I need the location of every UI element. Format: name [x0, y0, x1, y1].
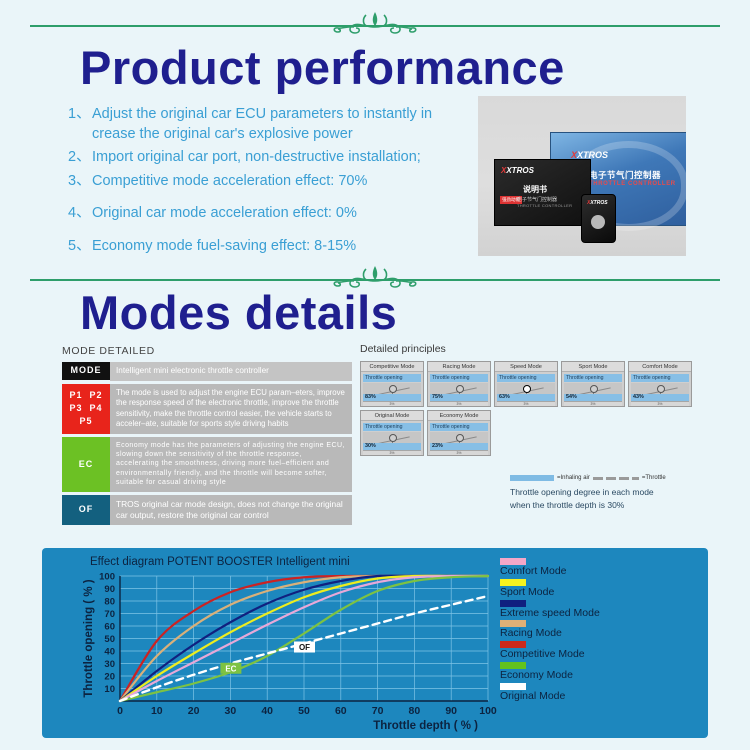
card-open-label: Throttle opening	[631, 374, 689, 382]
list-item-text: Import original car port, non-destructiv…	[92, 148, 468, 168]
manual-title-cn: 说明书	[523, 184, 547, 195]
svg-text:80: 80	[104, 597, 115, 608]
card-foot-label: 3%	[524, 402, 529, 406]
legend-swatch	[500, 641, 526, 648]
svg-text:50: 50	[298, 705, 310, 717]
legend-item: Racing Mode	[500, 620, 600, 640]
legend-item: Original Mode	[500, 683, 600, 703]
svg-text:60: 60	[335, 705, 347, 717]
table-row: EC Economy mode has the parameters of ad…	[62, 437, 352, 492]
legend-swatch	[500, 683, 526, 690]
svg-text:20: 20	[188, 705, 200, 717]
list-item: Speed Mode Throttle opening 63% 3%	[494, 361, 558, 407]
page-title-modes-details: Modes details	[80, 285, 397, 340]
table-row-key: P1 P2 P3 P4 P5	[62, 384, 110, 434]
list-item-number: 2、	[68, 148, 92, 168]
card-dial-icon	[523, 385, 531, 393]
legend-item: Competitive Mode	[500, 641, 600, 661]
card-percentage: 54%	[564, 394, 622, 401]
card-open-label: Throttle opening	[430, 423, 488, 431]
card-title: Racing Mode	[428, 362, 490, 372]
flourish-ornament-icon	[300, 8, 450, 42]
table-row: MODE Intelligent mini electronic throttl…	[62, 362, 352, 381]
table-row-value: TROS original car mode design, does not …	[110, 495, 352, 526]
legend-label: Original Mode	[500, 690, 600, 703]
list-item: Competitive Mode Throttle opening 83% 3%	[360, 361, 424, 407]
legend-caption-line-1: Throttle opening degree in each mode	[510, 486, 700, 499]
table-row-value: Intelligent mini electronic throttle con…	[110, 362, 352, 381]
list-item-number: 1、	[68, 105, 92, 144]
svg-text:40: 40	[261, 705, 273, 717]
legend-item: Economy Mode	[500, 662, 600, 682]
svg-text:70: 70	[372, 705, 384, 717]
card-body: Throttle opening 83% 3%	[361, 372, 423, 406]
list-item-text: Original car mode acceleration effect: 0…	[92, 204, 468, 224]
product-manual: XXTROS 强劲动能 说明书 电子节气门控制器 THROTTLE CONTRO…	[494, 159, 591, 226]
legend-swatch	[500, 579, 526, 586]
card-footer: 3%	[363, 450, 421, 455]
legend-swatch	[500, 662, 526, 669]
chart-legend: Comfort ModeSport ModeExtreme speed Mode…	[500, 558, 600, 704]
product-device: XXTROS	[581, 194, 616, 243]
table-row: P1 P2 P3 P4 P5 The mode is used to adjus…	[62, 384, 352, 434]
svg-text:30: 30	[104, 659, 115, 670]
svg-text:60: 60	[104, 622, 115, 633]
list-item: 2、 Import original car port, non-destruc…	[68, 148, 468, 168]
svg-text:100: 100	[479, 705, 497, 717]
legend-label: Comfort Mode	[500, 565, 600, 578]
chart-canvas: 0102030405060708090100102030405060708090…	[42, 548, 708, 738]
card-dial-icon	[456, 434, 464, 442]
device-button-icon	[591, 215, 605, 229]
card-body: Throttle opening 43% 3%	[629, 372, 691, 406]
list-item: Comfort Mode Throttle opening 43% 3%	[628, 361, 692, 407]
legend-item: Extreme speed Mode	[500, 600, 600, 620]
card-open-label: Throttle opening	[430, 374, 488, 382]
list-item: 1、 Adjust the original car ECU parameter…	[68, 105, 468, 144]
device-brand-logo: XXTROS	[587, 200, 608, 206]
detailed-principles-caption: Detailed principles	[360, 343, 700, 355]
card-foot-label: 3%	[457, 402, 462, 406]
svg-text:Throttle depth ( % ): Throttle depth ( % )	[373, 720, 478, 732]
table-row: OF TROS original car mode design, does n…	[62, 495, 352, 526]
svg-text:90: 90	[104, 584, 115, 595]
page-title-product-performance: Product performance	[80, 40, 565, 95]
card-percentage: 83%	[363, 394, 421, 401]
card-body: Throttle opening 23% 3%	[428, 421, 490, 455]
svg-text:10: 10	[151, 705, 163, 717]
list-item-number: 4、	[68, 204, 92, 224]
manual-brand-logo: XXTROS	[501, 166, 534, 175]
legend-caption-line-2: when the throttle depth is 30%	[510, 499, 700, 512]
list-item: 4、 Original car mode acceleration effect…	[68, 204, 468, 224]
svg-text:30: 30	[225, 705, 237, 717]
list-item-text: Competitive mode acceleration effect: 70…	[92, 172, 468, 192]
list-item-text: Adjust the original car ECU parameters t…	[92, 105, 468, 144]
list-item: Economy Mode Throttle opening 23% 3%	[427, 410, 491, 456]
card-body: Throttle opening 63% 3%	[495, 372, 557, 406]
mode-detailed-table: MODE DETAILED MODE Intelligent mini elec…	[62, 345, 352, 528]
table-row-key: EC	[62, 437, 110, 492]
svg-text:0: 0	[117, 705, 123, 717]
principle-card-row-1: Competitive Mode Throttle opening 83% 3%…	[360, 361, 700, 407]
card-title: Competitive Mode	[361, 362, 423, 372]
card-percentage: 30%	[363, 443, 421, 450]
card-body: Throttle opening 30% 3%	[361, 421, 423, 455]
svg-text:70: 70	[104, 609, 115, 620]
legend-label: Economy Mode	[500, 669, 600, 682]
throttle-swatch	[593, 477, 639, 480]
card-title: Speed Mode	[495, 362, 557, 372]
manual-subtitle-en: THROTTLE CONTROLLER	[517, 203, 572, 208]
table-row-key: OF	[62, 495, 110, 526]
legend-label: Extreme speed Mode	[500, 607, 600, 620]
svg-text:100: 100	[99, 572, 115, 583]
card-percentage: 63%	[497, 394, 555, 401]
card-title: Sport Mode	[562, 362, 624, 372]
card-open-label: Throttle opening	[564, 374, 622, 382]
table-row-value: The mode is used to adjust the engine EC…	[110, 384, 352, 434]
svg-text:EC: EC	[225, 664, 236, 673]
legend-row: =Inhaling air =Throttle	[510, 475, 700, 481]
principle-card-row-2: Original Mode Throttle opening 30% 3% Ec…	[360, 410, 700, 456]
list-item: Original Mode Throttle opening 30% 3%	[360, 410, 424, 456]
card-dial-icon	[389, 385, 397, 393]
card-dial-icon	[389, 434, 397, 442]
card-foot-label: 3%	[457, 451, 462, 455]
box-title-en: THROTTLE CONTROLLER	[589, 181, 676, 187]
card-body: Throttle opening 54% 3%	[562, 372, 624, 406]
list-item-number: 3、	[68, 172, 92, 192]
svg-text:10: 10	[104, 684, 115, 695]
svg-text:Throttle opening ( % ): Throttle opening ( % )	[83, 579, 95, 697]
svg-text:40: 40	[104, 647, 115, 658]
manual-subtitle-cn: 电子节气门控制器	[517, 196, 557, 203]
legend-item: Sport Mode	[500, 579, 600, 599]
card-footer: 3%	[497, 401, 555, 406]
feature-list: 1、 Adjust the original car ECU parameter…	[68, 105, 468, 260]
card-open-label: Throttle opening	[363, 423, 421, 431]
effect-diagram-chart: Effect diagram POTENT BOOSTER Intelligen…	[42, 548, 708, 738]
legend-swatch	[500, 558, 526, 565]
mode-detailed-caption: MODE DETAILED	[62, 345, 352, 357]
legend-label: Sport Mode	[500, 586, 600, 599]
svg-text:80: 80	[409, 705, 421, 717]
card-open-label: Throttle opening	[497, 374, 555, 382]
principles-legend: =Inhaling air =Throttle Throttle opening…	[510, 475, 700, 512]
card-footer: 3%	[363, 401, 421, 406]
inhaling-air-label: =Inhaling air	[557, 475, 590, 481]
list-item: 5、 Economy mode fuel-saving effect: 8-15…	[68, 237, 468, 257]
inhaling-air-swatch	[510, 475, 554, 481]
card-title: Original Mode	[361, 411, 423, 421]
card-footer: 3%	[564, 401, 622, 406]
legend-item: Comfort Mode	[500, 558, 600, 578]
card-footer: 3%	[430, 401, 488, 406]
list-item: Racing Mode Throttle opening 75% 3%	[427, 361, 491, 407]
card-percentage: 23%	[430, 443, 488, 450]
list-item: Sport Mode Throttle opening 54% 3%	[561, 361, 625, 407]
throttle-label: =Throttle	[642, 475, 666, 481]
legend-swatch	[500, 620, 526, 627]
card-dial-icon	[456, 385, 464, 393]
infographic-page: Product performance 1、 Adjust the origin…	[0, 0, 750, 750]
card-dial-icon	[590, 385, 598, 393]
card-footer: 3%	[430, 450, 488, 455]
svg-text:20: 20	[104, 672, 115, 683]
card-body: Throttle opening 75% 3%	[428, 372, 490, 406]
card-footer: 3%	[631, 401, 689, 406]
svg-text:OF: OF	[299, 643, 310, 652]
card-foot-label: 3%	[658, 402, 663, 406]
card-percentage: 43%	[631, 394, 689, 401]
list-item-text: Economy mode fuel-saving effect: 8-15%	[92, 237, 468, 257]
legend-swatch	[500, 600, 526, 607]
card-title: Economy Mode	[428, 411, 490, 421]
list-item-number: 5、	[68, 237, 92, 257]
svg-text:50: 50	[104, 634, 115, 645]
card-foot-label: 3%	[390, 402, 395, 406]
card-foot-label: 3%	[390, 451, 395, 455]
card-open-label: Throttle opening	[363, 374, 421, 382]
card-title: Comfort Mode	[629, 362, 691, 372]
legend-label: Competitive Mode	[500, 648, 600, 661]
card-percentage: 75%	[430, 394, 488, 401]
ornament-divider-top	[0, 8, 750, 42]
product-photo: XXTROS 电子节气门控制器 THROTTLE CONTROLLER XXTR…	[478, 96, 686, 256]
svg-text:90: 90	[445, 705, 457, 717]
card-foot-label: 3%	[591, 402, 596, 406]
box-title-cn: 电子节气门控制器	[589, 169, 661, 181]
table-row-key: MODE	[62, 362, 110, 380]
legend-label: Racing Mode	[500, 627, 600, 640]
list-item: 3、 Competitive mode acceleration effect:…	[68, 172, 468, 192]
table-row-value: Economy mode has the parameters of adjus…	[110, 437, 352, 492]
detailed-principles: Detailed principles Competitive Mode Thr…	[360, 343, 700, 456]
card-dial-icon	[657, 385, 665, 393]
